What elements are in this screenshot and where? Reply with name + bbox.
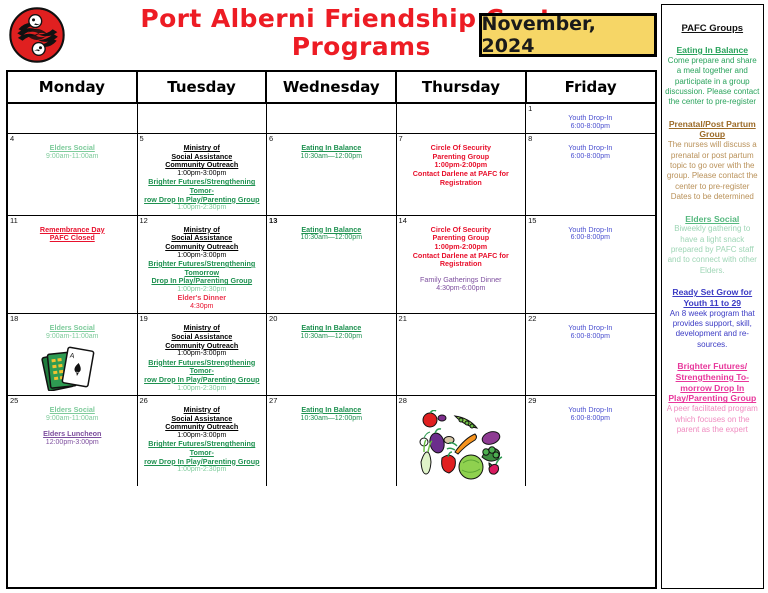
calendar-header: Port Alberni Friendship Center Programs … (6, 4, 657, 70)
calendar-week-row: 25Elders Social9:00am-11:00amElders Lunc… (8, 396, 655, 486)
event-title: Eating In Balance (269, 226, 394, 235)
calendar-grid: Monday Tuesday Wednesday Thursday Friday (6, 70, 657, 589)
calendar-event[interactable]: Family Gatherings Dinner4:30pm-6:00pm (399, 276, 524, 293)
day-number: 12 (140, 216, 148, 225)
calendar-event[interactable]: Elders Social9:00am-11:00am (10, 144, 135, 161)
sidebar-program-block: Elders SocialBiweekly gathering to have … (665, 214, 760, 277)
event-title: Brighter Futures/Strengthening Tomorrow (140, 260, 265, 277)
event-title: Eating In Balance (269, 144, 394, 153)
sidebar-program-description: Biweekly gathering to have a light snack… (665, 224, 760, 276)
sidebar-program-heading: Eating In Balance (665, 45, 760, 56)
calendar-day-cell[interactable]: 20Eating In Balance10:30am—12:00pm (267, 314, 397, 395)
event-title: Drop In Play/Parenting Group (140, 277, 265, 286)
sidebar-program-block: Brighter Futures/ Strengthening To-morro… (665, 361, 760, 435)
calendar-day-cell[interactable]: 22Youth Drop-In6:00-8:00pm (526, 314, 655, 395)
sidebar-program-heading: Elders Social (665, 214, 760, 225)
calendar-day-cell[interactable]: 6Eating In Balance10:30am—12:00pm (267, 134, 397, 215)
day-number: 22 (528, 314, 536, 323)
sidebar-column: PAFC Groups Eating In BalanceCome prepar… (661, 4, 764, 589)
event-title: Brighter Futures/Strengthening Tomor- (140, 178, 265, 195)
day-events: Ministry ofSocial AssistanceCommunity Ou… (140, 324, 265, 393)
event-title: Community Outreach (140, 161, 265, 170)
day-events: Eating In Balance10:30am—12:00pm (269, 324, 394, 341)
day-events: Elders Social9:00am-11:00am (10, 144, 135, 161)
event-time: 10:30am—12:00pm (269, 234, 394, 242)
day-events: Ministry ofSocial AssistanceCommunity Ou… (140, 226, 265, 312)
day-events: Youth Drop-In6:00-8:00pm (528, 406, 653, 423)
sidebar-program-heading: Brighter Futures/ Strengthening To-morro… (665, 361, 760, 404)
day-events: Eating In Balance10:30am—12:00pm (269, 406, 394, 423)
calendar-day-cell[interactable]: 11Remembrance DayPAFC Closed (8, 216, 138, 314)
calendar-day-cell[interactable]: 7Circle Of SecurityParenting Group1:00pm… (397, 134, 527, 215)
day-number: 26 (140, 396, 148, 405)
event-title: Registration (399, 260, 524, 269)
day-events: Youth Drop-In6:00-8:00pm (528, 324, 653, 341)
day-events: Circle Of SecurityParenting Group1:00pm-… (399, 144, 524, 187)
day-events: Ministry ofSocial AssistanceCommunity Ou… (140, 144, 265, 213)
calendar-week-row: 4Elders Social9:00am-11:00am5Ministry of… (8, 134, 655, 216)
day-events: Youth Drop-In6:00-8:00pm (528, 114, 653, 131)
sidebar-program-block: Ready Set Grow for Youth 11 to 29An 8 we… (665, 287, 760, 350)
day-number: 7 (399, 134, 403, 143)
calendar-day-cell[interactable]: 29Youth Drop-In6:00-8:00pm (526, 396, 655, 486)
calendar-event[interactable]: Circle Of SecurityParenting Group1:00pm-… (399, 226, 524, 269)
weekday-thursday: Thursday (397, 72, 527, 102)
event-title: Youth Drop-In (528, 324, 653, 333)
event-time: 6:00-8:00pm (528, 234, 653, 242)
calendar-event[interactable]: Youth Drop-In6:00-8:00pm (528, 114, 653, 131)
calendar-event[interactable]: Ministry ofSocial AssistanceCommunity Ou… (140, 324, 265, 358)
calendar-event[interactable]: Eating In Balance10:30am—12:00pm (269, 226, 394, 243)
sidebar-program-heading: Prenatal/Post Partum Group (665, 119, 760, 140)
day-events: Eating In Balance10:30am—12:00pm (269, 144, 394, 161)
calendar-week-row: 11Remembrance DayPAFC Closed12Ministry o… (8, 216, 655, 315)
calendar-day-cell[interactable]: 21 (397, 314, 527, 395)
calendar-day-cell[interactable] (138, 104, 268, 133)
calendar-event[interactable]: Ministry ofSocial AssistanceCommunity Ou… (140, 144, 265, 178)
day-number: 18 (10, 314, 18, 323)
pafc-logo-icon (8, 6, 66, 64)
day-number: 13 (269, 216, 277, 225)
day-events: Circle Of SecurityParenting Group1:00pm-… (399, 226, 524, 293)
event-time: 9:00am-11:00am (10, 153, 135, 161)
event-title: Eating In Balance (269, 324, 394, 333)
event-title: Brighter Futures/Strengthening Tomor- (140, 440, 265, 457)
event-title: Elders Social (10, 324, 135, 333)
event-title: Youth Drop-In (528, 144, 653, 153)
sidebar-program-heading: Ready Set Grow for Youth 11 to 29 (665, 287, 760, 308)
event-title: Registration (399, 179, 524, 188)
event-title: row Drop In Play/Parenting Group (140, 458, 265, 467)
sidebar-program-description: A peer facilitated program which focuses… (665, 404, 760, 435)
day-number: 1 (528, 104, 532, 113)
calendar-event[interactable]: Circle Of SecurityParenting Group1:00pm-… (399, 144, 524, 187)
event-time: 6:00-8:00pm (528, 415, 653, 423)
sidebar-program-description: An 8 week program that provides support,… (665, 309, 760, 351)
calendar-day-cell[interactable]: 8Youth Drop-In6:00-8:00pm (526, 134, 655, 215)
event-title: Youth Drop-In (528, 114, 653, 123)
calendar-event[interactable]: Youth Drop-In6:00-8:00pm (528, 144, 653, 161)
calendar-day-cell[interactable]: 4Elders Social9:00am-11:00am (8, 134, 138, 215)
calendar-day-cell[interactable]: 27Eating In Balance10:30am—12:00pm (267, 396, 397, 486)
calendar-day-cell[interactable]: 15Youth Drop-In6:00-8:00pm (526, 216, 655, 314)
playing-cards-clipart: A (41, 343, 103, 391)
day-number: 6 (269, 134, 273, 143)
calendar-day-cell[interactable]: 1Youth Drop-In6:00-8:00pm (526, 104, 655, 133)
weekday-monday: Monday (8, 72, 138, 102)
day-number: 4 (10, 134, 14, 143)
event-time: 9:00am-11:00am (10, 333, 135, 341)
event-title: Elders Luncheon (10, 430, 135, 439)
calendar-event[interactable]: Eating In Balance10:30am—12:00pm (269, 144, 394, 161)
day-events: Elders Social9:00am-11:00amElders Lunche… (10, 406, 135, 447)
day-events: Remembrance DayPAFC Closed (10, 226, 135, 243)
pafc-groups-sidebar: PAFC Groups Eating In BalanceCome prepar… (661, 4, 764, 589)
calendar-event[interactable]: Eating In Balance10:30am—12:00pm (269, 324, 394, 341)
day-number: 29 (528, 396, 536, 405)
calendar-day-cell[interactable]: 5Ministry ofSocial AssistanceCommunity O… (138, 134, 268, 215)
calendar-day-cell[interactable] (267, 104, 397, 133)
event-title: Community Outreach (140, 243, 265, 252)
day-number: 11 (10, 216, 18, 225)
event-title: Community Outreach (140, 423, 265, 432)
calendar-event[interactable]: Elder's Dinner4:30pm (140, 294, 265, 311)
calendar-event[interactable]: Ministry ofSocial AssistanceCommunity Ou… (140, 226, 265, 260)
calendar-event[interactable]: Elders Social9:00am-11:00am (10, 406, 135, 423)
event-time: 12:00pm-3:00pm (10, 439, 135, 447)
event-time: 10:30am—12:00pm (269, 415, 394, 423)
calendar-event[interactable]: Youth Drop-In6:00-8:00pm (528, 226, 653, 243)
day-number: 15 (528, 216, 536, 225)
day-events: Eating In Balance10:30am—12:00pm (269, 226, 394, 243)
event-title: row Drop In Play/Parenting Group (140, 376, 265, 385)
day-number: 21 (399, 314, 407, 323)
sidebar-title: PAFC Groups (665, 23, 760, 34)
calendar-event[interactable]: Remembrance DayPAFC Closed (10, 226, 135, 243)
event-time: 1:00pm-2:30pm (140, 204, 265, 212)
calendar-day-cell[interactable]: 19Ministry ofSocial AssistanceCommunity … (138, 314, 268, 395)
month-badge: November, 2024 (479, 13, 657, 57)
calendar-main-column: Port Alberni Friendship Center Programs … (6, 4, 657, 589)
day-number: 28 (399, 396, 407, 405)
event-title: PAFC Closed (10, 234, 135, 243)
sidebar-program-block: Prenatal/Post Partum GroupThe nurses wil… (665, 119, 760, 203)
weekday-wednesday: Wednesday (267, 72, 397, 102)
event-title: Youth Drop-In (528, 406, 653, 415)
event-time: 4:30pm-6:00pm (399, 285, 524, 293)
event-time: 4:30pm (140, 303, 265, 311)
day-number: 27 (269, 396, 277, 405)
day-number: 25 (10, 396, 18, 405)
calendar-day-cell[interactable]: 26Ministry ofSocial AssistanceCommunity … (138, 396, 268, 486)
calendar-event[interactable]: Youth Drop-In6:00-8:00pm (528, 324, 653, 341)
sidebar-program-description: The nurses will discuss a prenatal or po… (665, 140, 760, 202)
vegetables-clipart (411, 410, 511, 484)
calendar-event[interactable]: Brighter Futures/Strengthening TomorrowD… (140, 260, 265, 294)
event-title: Community Outreach (140, 342, 265, 351)
calendar-day-cell[interactable]: 28 (397, 396, 527, 486)
calendar-event[interactable]: Ministry ofSocial AssistanceCommunity Ou… (140, 406, 265, 440)
calendar-event[interactable]: Eating In Balance10:30am—12:00pm (269, 406, 394, 423)
calendar-week-row: 18Elders Social9:00am-11:00am A 19Minist… (8, 314, 655, 396)
event-time: 1:00pm-2:30pm (140, 385, 265, 393)
event-time: 6:00-8:00pm (528, 123, 653, 131)
calendar-day-cell[interactable] (8, 104, 138, 133)
dancing-kids-clipart (70, 108, 138, 133)
event-title: Elder's Dinner (140, 294, 265, 303)
event-time: 1:00pm-2:30pm (140, 466, 265, 474)
playing-cards-clipart: A (10, 343, 135, 391)
event-time: 10:30am—12:00pm (269, 153, 394, 161)
calendar-event[interactable]: Elders Social9:00am-11:00am (10, 324, 135, 341)
calendar-day-cell[interactable]: 25Elders Social9:00am-11:00amElders Lunc… (8, 396, 138, 486)
weekday-friday: Friday (527, 72, 655, 102)
calendar-event[interactable]: Elders Luncheon12:00pm-3:00pm (10, 430, 135, 447)
day-number: 8 (528, 134, 532, 143)
day-number: 19 (140, 314, 148, 323)
event-time: 10:30am—12:00pm (269, 333, 394, 341)
event-title: row Drop In Play/Parenting Group (140, 196, 265, 205)
vegetables-clipart (399, 410, 524, 484)
weekday-header-row: Monday Tuesday Wednesday Thursday Friday (8, 72, 655, 104)
day-number: 5 (140, 134, 144, 143)
weekday-tuesday: Tuesday (138, 72, 268, 102)
calendar-week-row: 1Youth Drop-In6:00-8:00pm (8, 104, 655, 134)
event-title: Family Gatherings Dinner (399, 276, 524, 285)
day-number: 20 (269, 314, 277, 323)
event-time: 6:00-8:00pm (528, 333, 653, 341)
event-title: Eating In Balance (269, 406, 394, 415)
calendar-day-cell[interactable]: 18Elders Social9:00am-11:00am A (8, 314, 138, 395)
calendar-day-cell[interactable]: 12Ministry ofSocial AssistanceCommunity … (138, 216, 268, 314)
day-events: Youth Drop-In6:00-8:00pm (528, 144, 653, 161)
sidebar-program-description: Come prepare and share a meal together a… (665, 56, 760, 108)
event-title: Elders Social (10, 144, 135, 153)
calendar-event[interactable]: Youth Drop-In6:00-8:00pm (528, 406, 653, 423)
event-time: 9:00am-11:00am (10, 415, 135, 423)
day-events: Elders Social9:00am-11:00am (10, 324, 135, 341)
calendar-day-cell[interactable]: 14Circle Of SecurityParenting Group1:00p… (397, 216, 527, 314)
day-events: Youth Drop-In6:00-8:00pm (528, 226, 653, 243)
calendar-event[interactable]: Brighter Futures/Strengthening Tomor-row… (140, 359, 265, 393)
sidebar-program-block: Eating In BalanceCome prepare and share … (665, 45, 760, 108)
event-title: Brighter Futures/Strengthening Tomor- (140, 359, 265, 376)
calendar-day-cell[interactable] (397, 104, 527, 133)
calendar-event[interactable]: Brighter Futures/Strengthening Tomor-row… (140, 440, 265, 474)
event-time: 6:00-8:00pm (528, 153, 653, 161)
event-title: Elders Social (10, 406, 135, 415)
calendar-event[interactable]: Brighter Futures/Strengthening Tomor-row… (140, 178, 265, 212)
calendar-page: Port Alberni Friendship Center Programs … (0, 0, 768, 593)
calendar-day-cell[interactable]: 13Eating In Balance10:30am—12:00pm (267, 216, 397, 314)
day-number: 14 (399, 216, 407, 225)
day-events: Ministry ofSocial AssistanceCommunity Ou… (140, 406, 265, 475)
event-title: Youth Drop-In (528, 226, 653, 235)
